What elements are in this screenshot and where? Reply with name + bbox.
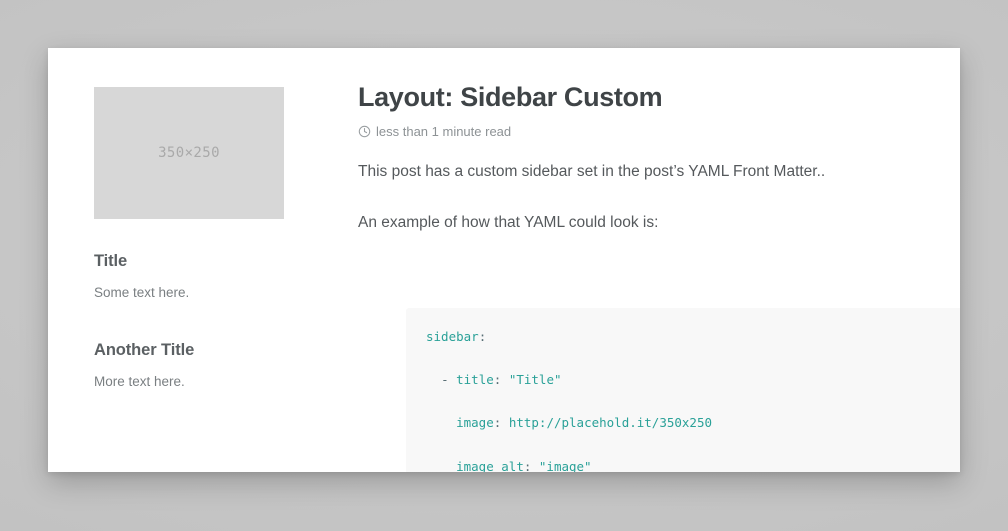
sidebar-block-title: Another Title [94,341,284,360]
page-title: Layout: Sidebar Custom [358,82,960,113]
article-paragraph: This post has a custom sidebar set in th… [358,160,960,183]
sidebar-block-title: Title [94,252,284,271]
code-content: sidebar: - title: "Title" image: http://… [406,326,960,472]
content-card: 350×250 Title Some text here. Another Ti… [48,48,960,472]
clock-icon [358,125,371,138]
article-meta: less than 1 minute read [358,125,960,138]
code-text: sidebar: - title: "Title" image: http://… [426,326,960,472]
placeholder-image-label: 350×250 [158,145,220,161]
article-paragraph: An example of how that YAML could look i… [358,211,960,234]
sidebar-block-text: More text here. [94,372,284,392]
sidebar-block: Another Title More text here. [94,341,284,392]
yaml-code-block: sidebar: - title: "Title" image: http://… [406,308,960,472]
read-time-label: less than 1 minute read [376,125,511,138]
sidebar-placeholder-image: 350×250 [94,87,284,219]
post-sidebar: 350×250 Title Some text here. Another Ti… [94,87,340,393]
article-main: Layout: Sidebar Custom less than 1 minut… [358,82,960,472]
sidebar-block: Title Some text here. [94,252,284,303]
sidebar-block-text: Some text here. [94,283,284,303]
